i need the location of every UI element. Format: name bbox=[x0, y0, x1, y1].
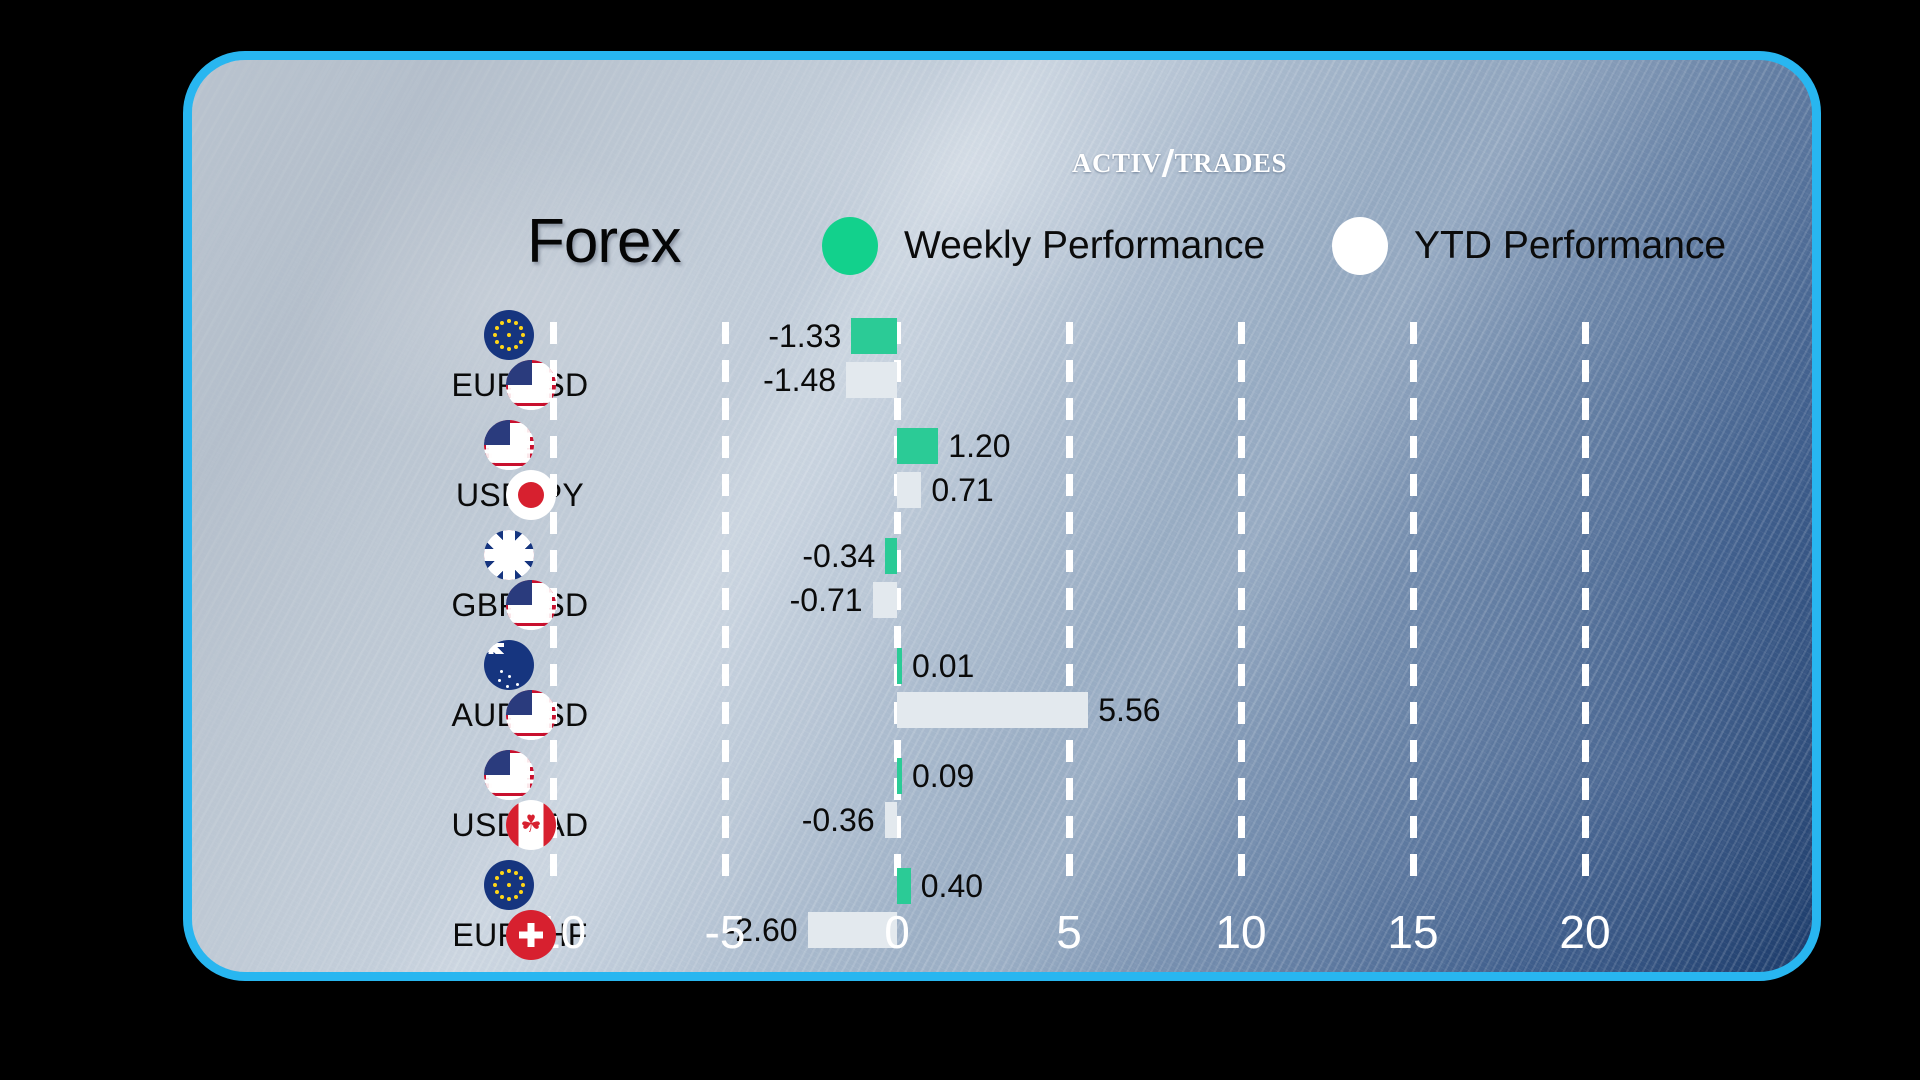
forex-performance-card: ACTIVTRADES Forex Weekly Performance YTD… bbox=[183, 51, 1821, 981]
ytd-legend-circle-icon bbox=[1332, 217, 1388, 275]
legend-item-ytd[interactable]: YTD Performance bbox=[1332, 217, 1726, 275]
bar-gbpusd-ytd[interactable] bbox=[873, 582, 897, 618]
value-label-gbpusd-ytd: -0.71 bbox=[790, 582, 863, 618]
activtrades-logo: ACTIVTRADES bbox=[1072, 148, 1287, 179]
bar-usdcad-ytd[interactable] bbox=[885, 802, 897, 838]
flag-us-icon bbox=[506, 360, 556, 410]
bar-audusd-ytd[interactable] bbox=[897, 692, 1088, 728]
bar-usdjpy-ytd[interactable] bbox=[897, 472, 921, 508]
value-label-eurusd-ytd: -1.48 bbox=[763, 362, 836, 398]
legend-label-weekly: Weekly Performance bbox=[904, 224, 1265, 268]
value-label-usdjpy-ytd: 0.71 bbox=[931, 472, 993, 508]
flag-gb-icon bbox=[484, 530, 534, 580]
x-tick-20: 20 bbox=[1559, 905, 1610, 959]
logo-text-activ: ACTIV bbox=[1072, 148, 1162, 178]
bar-chart-plot-area: -1.33-1.481.200.71-0.34-0.710.015.560.09… bbox=[192, 310, 1821, 890]
flag-eu-icon bbox=[484, 310, 534, 360]
flag-us-icon bbox=[484, 420, 534, 470]
bar-row: 1.200.71 bbox=[192, 420, 1821, 530]
x-tick-10: 10 bbox=[1215, 905, 1266, 959]
flag-us-icon bbox=[484, 750, 534, 800]
value-label-usdcad-ytd: -0.36 bbox=[802, 802, 875, 838]
x-tick--5: -5 bbox=[705, 905, 746, 959]
value-label-gbpusd-weekly: -0.34 bbox=[802, 538, 875, 574]
screenshot-root: ACTIVTRADES Forex Weekly Performance YTD… bbox=[0, 0, 1920, 1080]
logo-text-trades: TRADES bbox=[1175, 148, 1288, 178]
x-tick-0: 0 bbox=[884, 905, 910, 959]
bar-row: -1.33-1.48 bbox=[192, 310, 1821, 420]
flag-au-icon bbox=[484, 640, 534, 690]
bar-eurchf-weekly[interactable] bbox=[897, 868, 911, 904]
logo-slash-icon bbox=[1162, 150, 1175, 176]
value-label-eurusd-weekly: -1.33 bbox=[768, 318, 841, 354]
bar-row: 0.015.56 bbox=[192, 640, 1821, 750]
flag-ch-icon bbox=[506, 910, 556, 960]
legend-item-weekly[interactable]: Weekly Performance bbox=[822, 217, 1265, 275]
value-label-audusd-ytd: 5.56 bbox=[1098, 692, 1160, 728]
weekly-legend-circle-icon bbox=[822, 217, 878, 275]
bar-gbpusd-weekly[interactable] bbox=[885, 538, 897, 574]
bar-usdjpy-weekly[interactable] bbox=[897, 428, 938, 464]
flag-us-icon bbox=[506, 580, 556, 630]
value-label-usdjpy-weekly: 1.20 bbox=[948, 428, 1010, 464]
page-title: Forex bbox=[527, 206, 680, 277]
x-axis-label: % Performance bbox=[192, 972, 1812, 981]
flag-eu-icon bbox=[484, 860, 534, 910]
bar-audusd-weekly[interactable] bbox=[897, 648, 902, 684]
x-tick-15: 15 bbox=[1387, 905, 1438, 959]
x-tick-5: 5 bbox=[1056, 905, 1082, 959]
bar-row: 0.09-0.36 bbox=[192, 750, 1821, 860]
flag-us-icon bbox=[506, 690, 556, 740]
bar-row: -0.34-0.71 bbox=[192, 530, 1821, 640]
value-label-eurchf-weekly: 0.40 bbox=[921, 868, 983, 904]
flag-jp-icon bbox=[506, 470, 556, 520]
legend-label-ytd: YTD Performance bbox=[1414, 224, 1726, 268]
bar-usdcad-weekly[interactable] bbox=[897, 758, 902, 794]
flag-ca-icon bbox=[506, 800, 556, 850]
x-axis-ticks: -10-505101520 bbox=[192, 905, 1821, 975]
bar-eurusd-ytd[interactable] bbox=[846, 362, 897, 398]
bar-eurusd-weekly[interactable] bbox=[851, 318, 897, 354]
value-label-audusd-weekly: 0.01 bbox=[912, 648, 974, 684]
value-label-usdcad-weekly: 0.09 bbox=[912, 758, 974, 794]
